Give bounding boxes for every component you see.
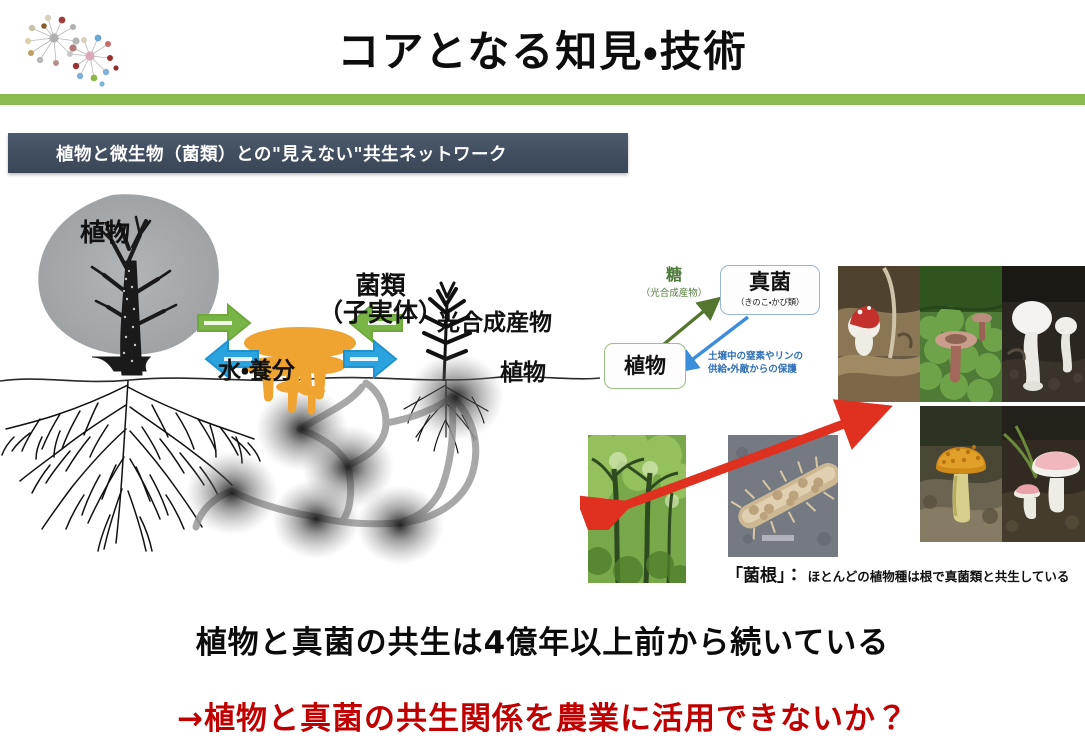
plant-box: 植物 xyxy=(604,343,686,389)
photo-pink-russula xyxy=(1002,406,1085,542)
fungi-box: 真菌 （きのこ・かび類） xyxy=(720,265,820,315)
sugar-label-main: 糖 xyxy=(614,267,734,283)
page-title: コアとなる知見・技術 xyxy=(0,18,1085,79)
header-divider xyxy=(0,94,1085,105)
mycorrhiza-caption: 「菌根」： ほとんどの植物種は根で真菌類と共生している xyxy=(726,561,1085,586)
slide-root: コアとなる知見・技術 植物と微生物（菌類）との"見えない"共生ネットワーク xyxy=(0,0,1085,744)
photo-orange-bolete xyxy=(920,406,1002,542)
label-plant-right: 植物 xyxy=(500,353,546,387)
fungi-box-subtitle: （きのこ・かび類） xyxy=(736,296,804,308)
sugar-label: 糖 （光合成産物） xyxy=(614,267,734,299)
soil-nutrient-line1: 土壌中の窒素やリンの xyxy=(708,351,848,364)
plant-box-title: 植物 xyxy=(624,356,666,377)
sugar-label-sub: （光合成産物） xyxy=(614,285,734,299)
symbiosis-schema: 真菌 （きのこ・かび類） 植物 糖 （光合成産物） 土壌中の窒素やリンの 供給・… xyxy=(580,255,850,395)
label-water-nutrients: 水・養分 xyxy=(218,351,295,385)
label-fungi-line2: （子実体） xyxy=(318,299,443,326)
label-plant-left: 植物 xyxy=(80,213,130,249)
soil-nutrient-label: 土壌中の窒素やリンの 供給・外敵からの保護 xyxy=(708,351,848,377)
label-photosynthate: 光合成産物 xyxy=(437,303,552,337)
soil-nutrient-line2: 供給・外敵からの保護 xyxy=(708,364,848,377)
conclusion-line-1: 植物と真菌の共生は4億年以上前から続いている xyxy=(0,617,1085,662)
label-fungi-line1: 菌類 xyxy=(318,272,443,299)
label-fungi: 菌類 （子実体） xyxy=(318,272,443,326)
section-banner-label: 植物と微生物（菌類）との"見えない"共生ネットワーク xyxy=(8,133,628,173)
conclusion-line-2: →植物と真菌の共生関係を農業に活用できないか？ xyxy=(0,693,1085,738)
mycorrhiza-caption-term: 「菌根」： xyxy=(726,566,803,586)
photo-mycorrhiza-root xyxy=(728,435,838,557)
mycorrhiza-caption-text: ほとんどの植物種は根で真菌類と共生している xyxy=(808,569,1070,584)
photo-fly-agaric xyxy=(838,266,920,402)
photo-white-mushrooms xyxy=(1002,266,1085,402)
ecosystem-diagram: 植物 菌類 （子実体） 光合成産物 水・養分 植物 xyxy=(0,175,600,595)
section-banner: 植物と微生物（菌類）との"見えない"共生ネットワーク xyxy=(8,133,628,173)
fungi-box-title: 真菌 xyxy=(749,272,791,293)
photo-forest xyxy=(588,435,686,583)
photo-milkcap-moss xyxy=(920,266,1002,402)
